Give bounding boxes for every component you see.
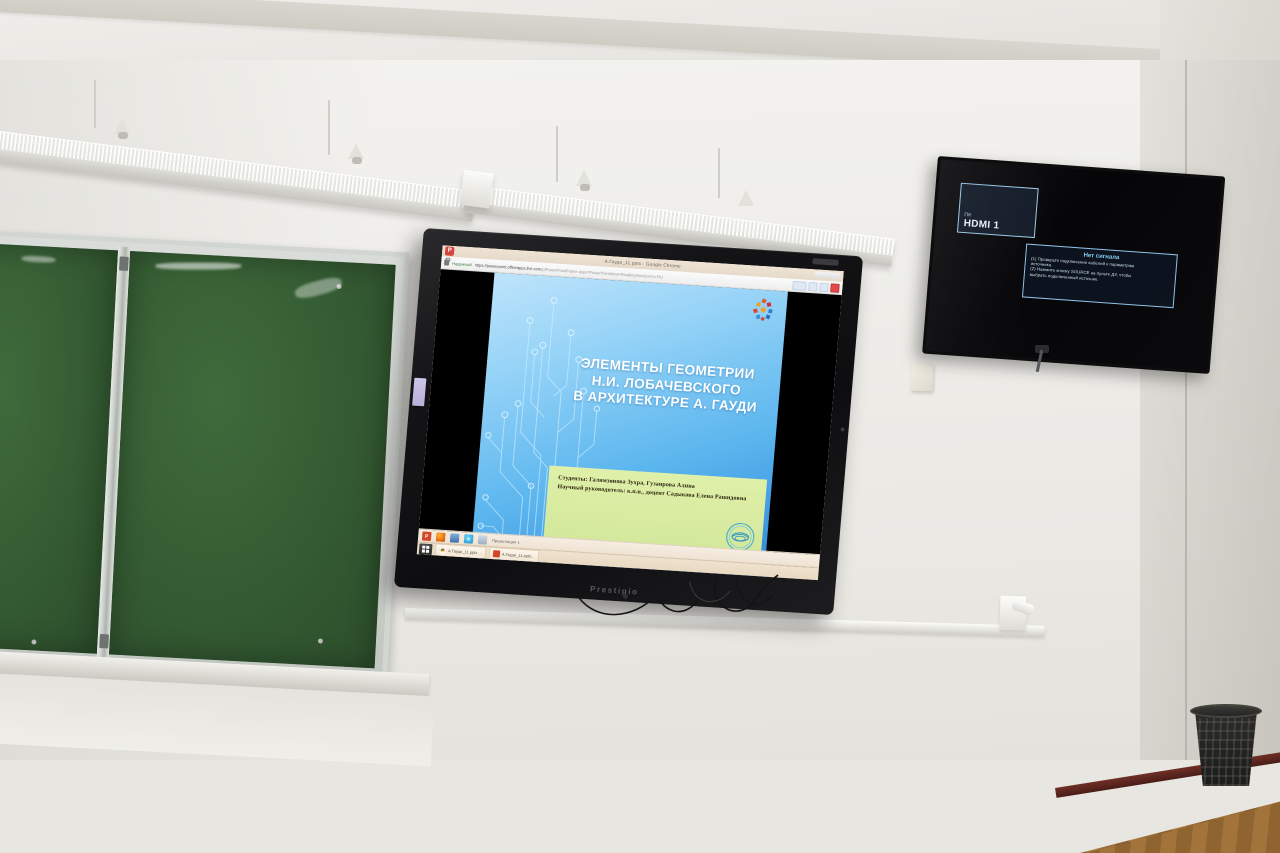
firefox-icon[interactable] xyxy=(436,532,446,542)
taskbar-item-chrome[interactable]: А.Гауди_11.pptx ... xyxy=(435,543,487,559)
display-top-vent xyxy=(812,258,838,266)
powerpoint-note-label: Презентация 1 xyxy=(492,538,520,545)
powerpoint-icon-taskbar xyxy=(493,550,501,557)
display-inventory-sticker xyxy=(412,378,426,407)
classroom-scene: ПК HDMI 1 Нет сигнала (1) Проверьте подк… xyxy=(0,0,1280,853)
display-side-button[interactable] xyxy=(840,427,844,431)
hanging-cables xyxy=(540,575,880,665)
trash-bin-mesh xyxy=(1192,718,1260,786)
document-icon[interactable] xyxy=(478,535,488,545)
internet-explorer-icon[interactable]: e xyxy=(464,534,474,544)
windows-logo-icon xyxy=(422,546,430,553)
tv-no-signal-dialog: Нет сигнала (1) Проверьте подключение ка… xyxy=(1022,244,1178,309)
chalkboard-frame xyxy=(0,228,409,682)
taskbar-item-chrome-label: А.Гауди_11.pptx ... xyxy=(448,548,482,555)
security-label: Надежный xyxy=(452,260,472,266)
lamp-suspension-rod-4 xyxy=(718,148,720,198)
chalkboard-hinge-bottom xyxy=(99,634,109,648)
browser-viewport: ЭЛЕМЕНТЫ ГЕОМЕТРИИ Н.И. ЛОБАЧЕВСКОГО В А… xyxy=(417,269,842,580)
windows-desktop: P А.Гауди_11.pptx - Google Chrome Надежн… xyxy=(417,245,844,580)
tv-screen: ПК HDMI 1 Нет сигнала (1) Проверьте подк… xyxy=(925,159,1222,371)
trash-bin-rim xyxy=(1190,704,1262,718)
minimize-icon[interactable] xyxy=(819,282,829,292)
lamp-cap-2 xyxy=(352,157,362,164)
lamp-suspension-rod xyxy=(94,80,96,128)
parquet-floor-front xyxy=(1060,800,1280,853)
chalkboard-glint-1 xyxy=(155,263,241,270)
toolbar-right-controls[interactable] xyxy=(792,280,840,292)
taskbar-item-powerpoint[interactable]: А.Гауди_11.pptx... xyxy=(488,547,539,563)
mesh-trash-bin xyxy=(1192,708,1260,786)
chalkboard-panel-right xyxy=(109,251,396,668)
lamp-suspension-rod-3 xyxy=(556,126,558,182)
display-bezel: Prestigio P А.Гауди_11.pptx - Google Chr… xyxy=(394,228,863,615)
save-icon[interactable] xyxy=(450,533,460,543)
chrome-icon xyxy=(439,547,447,554)
wall-corner-line xyxy=(1185,60,1187,760)
lamp-cap xyxy=(118,132,128,139)
toolbar-chip-2[interactable] xyxy=(808,281,818,291)
start-button[interactable] xyxy=(419,543,433,555)
wall-mounted-tv[interactable]: ПК HDMI 1 Нет сигнала (1) Проверьте подк… xyxy=(922,156,1225,374)
lamp-junction-box xyxy=(460,170,494,208)
window-control-buttons[interactable] xyxy=(814,271,840,279)
browser-tab-icon[interactable]: P xyxy=(445,246,455,256)
chrome-browser-window[interactable]: P А.Гауди_11.pptx - Google Chrome Надежн… xyxy=(417,245,844,580)
side-wall xyxy=(1140,60,1280,760)
interactive-display-panel[interactable]: Prestigio P А.Гауди_11.pptx - Google Chr… xyxy=(394,228,863,615)
lock-icon xyxy=(444,259,449,265)
green-chalkboard xyxy=(0,228,409,682)
taskbar-item-powerpoint-label: А.Гауди_11.pptx... xyxy=(502,552,535,559)
wall-socket xyxy=(911,363,934,392)
lamp-bracket-4 xyxy=(738,190,754,206)
address-bar-host: https://powerpoint.officeapps.live.com xyxy=(475,262,542,271)
toolbar-chip-1[interactable] xyxy=(792,280,807,290)
chalkboard-hinge-top xyxy=(119,256,129,270)
presentation-slide[interactable]: ЭЛЕМЕНТЫ ГЕОМЕТРИИ Н.И. ЛОБАЧЕВСКОГО В А… xyxy=(471,273,788,578)
powerpoint-icon[interactable]: P xyxy=(422,531,432,541)
lamp-cap-3 xyxy=(580,184,590,191)
university-mosaic-logo xyxy=(749,296,777,324)
close-icon[interactable] xyxy=(830,283,840,293)
lamp-suspension-rod-2 xyxy=(328,100,330,155)
display-screen[interactable]: P А.Гауди_11.pptx - Google Chrome Надежн… xyxy=(417,245,844,580)
tv-source-indicator: ПК HDMI 1 xyxy=(957,183,1039,238)
